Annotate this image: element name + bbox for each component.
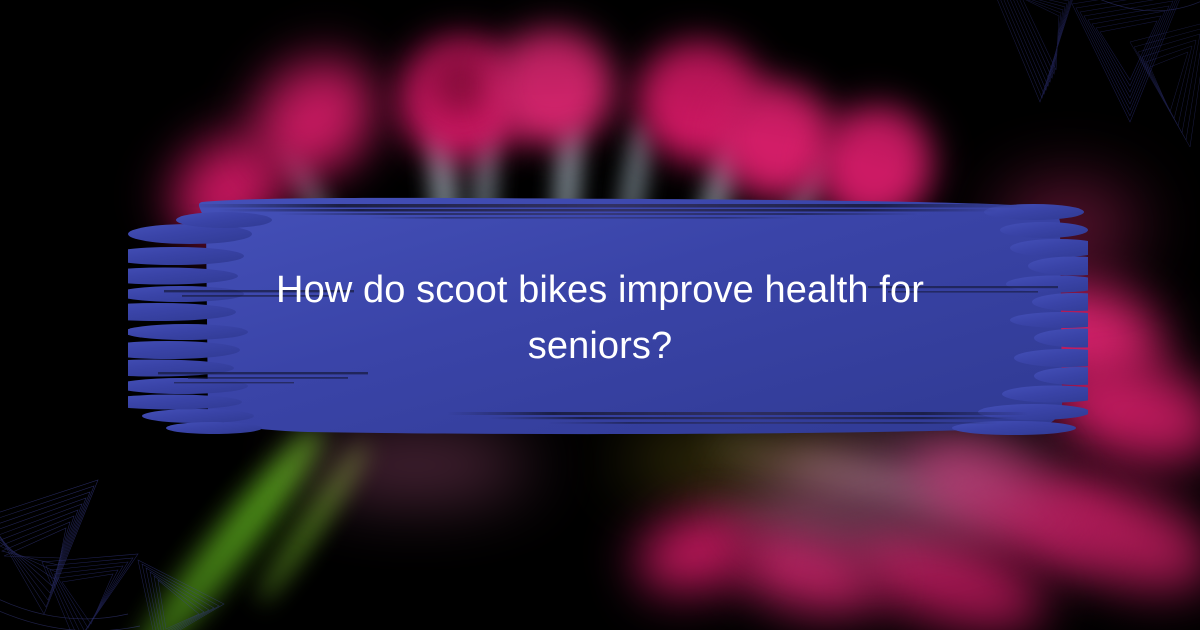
dark-branch xyxy=(690,494,990,572)
flower-bud-highlight xyxy=(430,54,494,116)
flower-bud xyxy=(486,22,619,150)
social-share-card: How do scoot bikes improve health for se… xyxy=(0,0,1200,630)
page-title: How do scoot bikes improve health for se… xyxy=(215,262,985,374)
flower-bud xyxy=(229,32,399,201)
wireframe-mesh-bottom-left xyxy=(0,444,248,630)
flower-bud xyxy=(1022,463,1200,615)
flower-bud xyxy=(897,425,1127,586)
pale-branch xyxy=(791,452,1000,511)
flower-bud xyxy=(626,30,773,172)
green-stem xyxy=(120,418,336,630)
flower-bud xyxy=(628,501,766,608)
flower-bud xyxy=(390,28,534,169)
flower-bud xyxy=(838,509,1059,630)
green-stem-highlight xyxy=(251,438,374,607)
flower-bud xyxy=(724,511,893,630)
wireframe-mesh-top-right xyxy=(980,0,1200,192)
